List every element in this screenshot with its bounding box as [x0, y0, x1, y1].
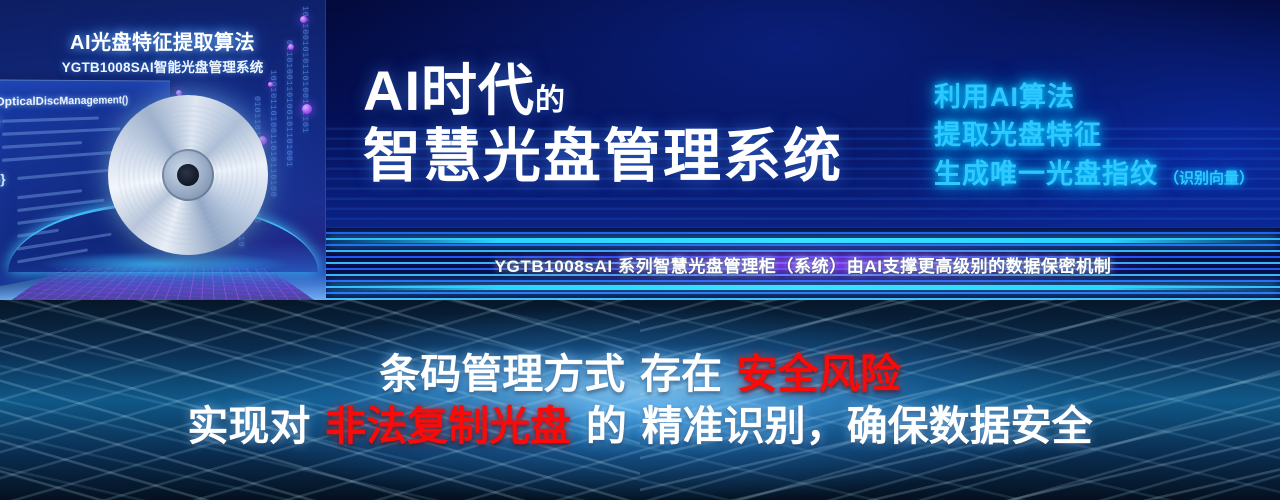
- code-line: [2, 141, 82, 149]
- feature-item-1: 利用AI算法: [934, 78, 1254, 116]
- code-brace-2: }}: [0, 171, 6, 187]
- card-title: AI光盘特征提取算法: [0, 26, 325, 55]
- code-line: [2, 117, 99, 123]
- feature-item-3-text: 生成唯一光盘指纹: [934, 159, 1158, 189]
- glow-dot: [268, 82, 273, 87]
- tagline-r2-seg-2: 非法复制光盘: [325, 403, 571, 449]
- tagline-row-2: 实现对非法复制光盘的精准识别，确保数据安全: [187, 402, 1092, 450]
- tagline-block: 条码管理方式存在安全风险 实现对非法复制光盘的精准识别，确保数据安全: [0, 300, 1280, 500]
- tagline-r2-seg-1: 实现对: [187, 403, 310, 449]
- tagline-r1-seg-3: 安全风险: [737, 351, 901, 397]
- product-card: AI光盘特征提取算法 YGTB1008SAI智能光盘管理系统 OpticalDi…: [0, 0, 326, 300]
- headline-line-2: 智慧光盘管理系统: [363, 127, 843, 186]
- feature-item-2: 提取光盘特征: [934, 116, 1254, 154]
- glow-dot: [300, 16, 307, 23]
- main-headline: AI时代的 智慧光盘管理系统: [363, 62, 843, 186]
- bottom-section: 条码管理方式存在安全风险 实现对非法复制光盘的精准识别，确保数据安全: [0, 300, 1280, 500]
- feature-item-3-tag: （识别向量）: [1164, 170, 1254, 187]
- headline-line-1-particle: 的: [535, 84, 566, 117]
- code-line: [17, 189, 82, 199]
- headline-line-1: AI时代的: [363, 62, 843, 119]
- subtitle-band: YGTB1008sAI 系列智慧光盘管理柜（系统）由AI支撑更高级别的数据保密机…: [326, 228, 1280, 300]
- tagline-row-1: 条码管理方式存在安全风险: [379, 350, 901, 398]
- tagline-r2-seg-3: 的: [586, 403, 627, 449]
- optical-disc-icon: [93, 80, 283, 270]
- tagline-r1-seg-1: 条码管理方式: [379, 351, 625, 397]
- promo-banner: AI光盘特征提取算法 YGTB1008SAI智能光盘管理系统 OpticalDi…: [0, 0, 1280, 500]
- card-subtitle: YGTB1008SAI智能光盘管理系统: [0, 56, 325, 76]
- tagline-r1-seg-2: 存在: [640, 351, 722, 397]
- tagline-r2-seg-4: 精准识别，确保数据安全: [642, 403, 1093, 449]
- feature-list: 利用AI算法 提取光盘特征 生成唯一光盘指纹（识别向量）: [934, 78, 1254, 193]
- headline-line-1-main: AI时代: [363, 59, 535, 122]
- code-function-label: OpticalDiscManagement(): [0, 95, 128, 109]
- feature-item-3: 生成唯一光盘指纹（识别向量）: [934, 155, 1254, 193]
- glow-dot: [302, 104, 312, 114]
- band-text: YGTB1008sAI 系列智慧光盘管理柜（系统）由AI支撑更高级别的数据保密机…: [326, 228, 1280, 300]
